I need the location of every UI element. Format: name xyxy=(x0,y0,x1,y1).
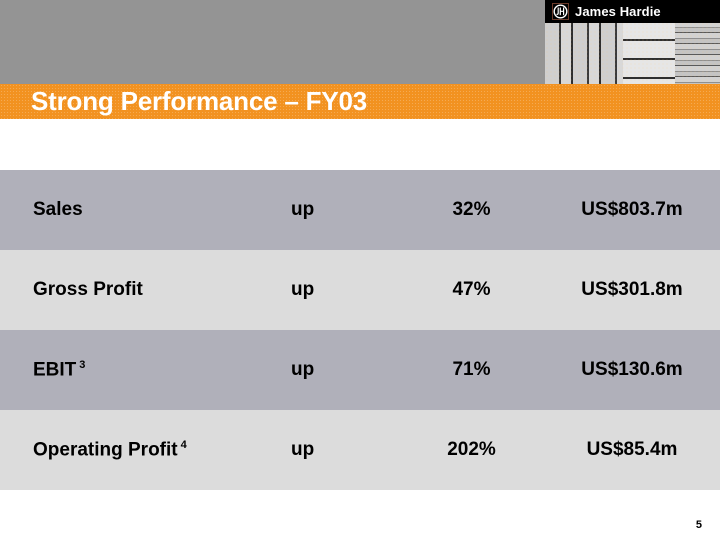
metric-label: Gross Profit xyxy=(33,279,143,300)
percent-cell: 32% xyxy=(399,199,544,221)
brand-logo-text: James Hardie xyxy=(575,4,661,19)
table-row: EBIT3 up 71% US$130.6m xyxy=(0,330,720,410)
metric-label-cell: Sales xyxy=(0,199,274,221)
percent-cell: 71% xyxy=(399,359,544,381)
metric-label: Sales xyxy=(33,199,83,220)
header-band: James Hardie xyxy=(0,0,720,84)
footnote-marker: 4 xyxy=(181,439,187,451)
table-row: Gross Profit up 47% US$301.8m xyxy=(0,250,720,330)
direction-cell: up xyxy=(274,359,399,381)
direction-cell: up xyxy=(274,439,399,461)
table-row: Operating Profit4 up 202% US$85.4m xyxy=(0,410,720,490)
page-number: 5 xyxy=(696,519,702,531)
value-cell: US$301.8m xyxy=(544,279,720,301)
percent-cell: 47% xyxy=(399,279,544,301)
metric-label-cell: Gross Profit xyxy=(0,279,274,301)
cladding-lines-texture xyxy=(675,22,720,84)
brand-logo: James Hardie xyxy=(545,0,720,23)
performance-table: Sales up 32% US$803.7m Gross Profit up 4… xyxy=(0,170,720,490)
table-row: Sales up 32% US$803.7m xyxy=(0,170,720,250)
metric-label: EBIT xyxy=(33,359,76,380)
cladding-boards-texture xyxy=(623,22,675,84)
value-cell: US$803.7m xyxy=(544,199,720,221)
slide: James Hardie Strong Performance – FY03 S… xyxy=(0,0,720,540)
metric-label-cell: Operating Profit4 xyxy=(0,439,274,461)
percent-cell: 202% xyxy=(399,439,544,461)
footnote-marker: 3 xyxy=(79,359,85,371)
direction-cell: up xyxy=(274,279,399,301)
direction-cell: up xyxy=(274,199,399,221)
james-hardie-monogram-icon xyxy=(552,3,569,20)
metric-label: Operating Profit xyxy=(33,439,178,460)
metric-label-cell: EBIT3 xyxy=(0,359,274,381)
value-cell: US$85.4m xyxy=(544,439,720,461)
page-title: Strong Performance – FY03 xyxy=(31,85,367,118)
cladding-planks-texture xyxy=(545,22,623,84)
value-cell: US$130.6m xyxy=(544,359,720,381)
